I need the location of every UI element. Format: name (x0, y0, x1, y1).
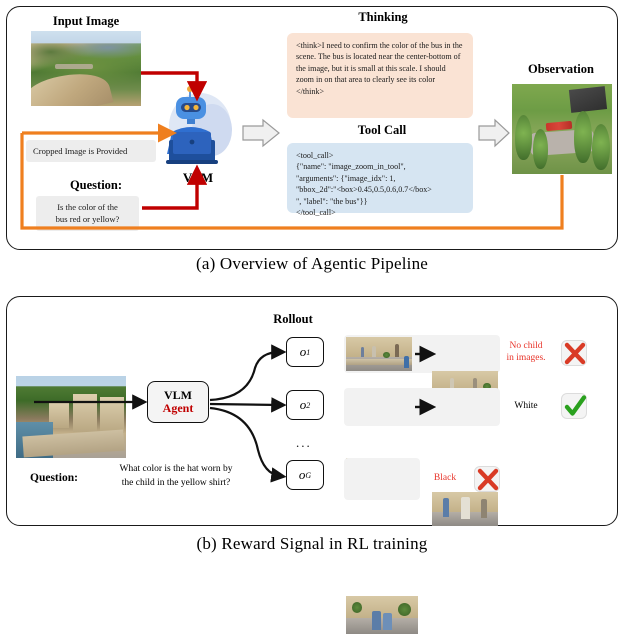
question-text-b: What color is the hat worn by the child … (96, 463, 256, 491)
tree-icon (592, 124, 610, 171)
building (100, 397, 124, 433)
rollout-3-image-a (346, 596, 418, 634)
wall (346, 337, 412, 357)
person (361, 347, 364, 357)
rollout-1-image-a (346, 337, 412, 371)
check-icon-2 (561, 393, 587, 419)
rollout-sub: 2 (306, 401, 310, 410)
plant (383, 352, 390, 358)
cross-icon-1 (561, 340, 587, 366)
rollout-sub: 1 (306, 348, 310, 357)
heading-input-image: Input Image (26, 14, 146, 29)
tool-call-line: {"name": "image_zoom_in_tool", (296, 161, 464, 172)
ledge (346, 359, 412, 364)
tool-call-line: ", "label": "the bus"}} (296, 196, 464, 207)
label-vlm: VLM (163, 170, 233, 186)
cropped-image-note: Cropped Image is Provided (26, 140, 156, 162)
person (443, 498, 450, 517)
caption-panel-b: (b) Reward Signal in RL training (0, 534, 624, 554)
caption-panel-a: (a) Overview of Agentic Pipeline (0, 254, 624, 274)
tool-call-line: "arguments": {"image_idx": 1, (296, 173, 464, 184)
aerial-roof (569, 86, 607, 113)
road (346, 618, 418, 634)
plant (352, 602, 362, 613)
person (372, 346, 375, 357)
building (73, 394, 97, 432)
tool-call-text-box: <tool_call> {"name": "image_zoom_in_tool… (287, 143, 473, 213)
tree-icon (574, 111, 592, 163)
panel-b-input-image (16, 376, 126, 458)
heading-thinking: Thinking (318, 10, 448, 25)
cross-icon-3 (474, 466, 500, 492)
vlm-agent-line2: Agent (163, 402, 194, 415)
thinking-text-box: <think>I need to confirm the color of th… (287, 33, 473, 118)
vlm-agent-box[interactable]: VLM Agent (147, 381, 209, 423)
verdict-text-2: White (500, 400, 552, 412)
rollout-row-3-bg (344, 458, 420, 500)
heading-tool-call: Tool Call (322, 123, 442, 138)
observation-image-thumbnail (512, 84, 612, 174)
person (481, 499, 488, 517)
person-white-hat (461, 497, 470, 519)
tree-icon (515, 115, 532, 160)
vlm-agent-line1: VLM (164, 389, 192, 402)
person (404, 356, 409, 368)
verdict-text-1: No child in images. (500, 340, 552, 365)
rollout-box-o1: o1 (286, 337, 324, 367)
person (372, 611, 381, 630)
heading-rollout: Rollout (248, 312, 338, 327)
ellipsis-rollouts: ... (296, 435, 312, 451)
rollout-2-image-b (432, 492, 498, 526)
rollout-row-2-bg (344, 388, 500, 426)
plant (398, 603, 411, 616)
person (395, 344, 400, 357)
tool-call-line: <tool_call> (296, 150, 464, 161)
rollout-sub: G (305, 471, 311, 480)
tree-icon (533, 129, 548, 169)
aerial-red-bus (546, 121, 573, 131)
heading-observation: Observation (506, 62, 616, 77)
rollout-box-oG: oG (286, 460, 324, 490)
person (383, 613, 392, 630)
verdict-text-3: Black (424, 472, 466, 484)
tool-call-line: </tool_call> (296, 207, 464, 218)
vlm-robot-illustration (160, 84, 234, 168)
tool-call-line: "bbox_2d":"<box>0.45,0.5,0.6,0.7</box> (296, 184, 464, 195)
heading-question-b: Question: (30, 472, 94, 484)
input-image-thumbnail (31, 31, 141, 106)
question-box-a: Is the color of the bus red or yellow? (36, 196, 139, 231)
heading-question-a: Question: (56, 178, 136, 193)
rollout-box-o2: o2 (286, 390, 324, 420)
